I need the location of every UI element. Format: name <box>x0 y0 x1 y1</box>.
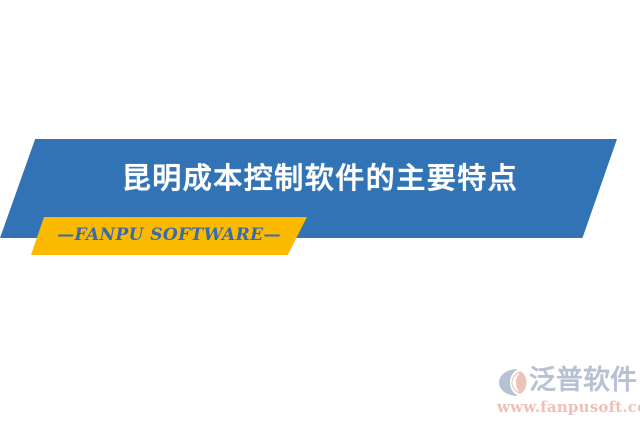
watermark-brand-name: 泛普软件 <box>529 364 637 398</box>
watermark-url: www.fanpusoft.com <box>497 398 640 417</box>
watermark-brand-row: 泛普软件 <box>494 364 636 400</box>
banner-subtitle: —FANPU SOFTWARE— <box>31 222 307 248</box>
page-title: 昆明成本控制软件的主要特点 <box>0 158 640 198</box>
watermark-logo: 泛普软件 www.fanpusoft.com <box>494 362 636 420</box>
page-canvas: 昆明成本控制软件的主要特点 —FANPU SOFTWARE— 泛普软件 www.… <box>0 0 640 427</box>
fanpu-swirl-logo-icon <box>496 367 528 397</box>
